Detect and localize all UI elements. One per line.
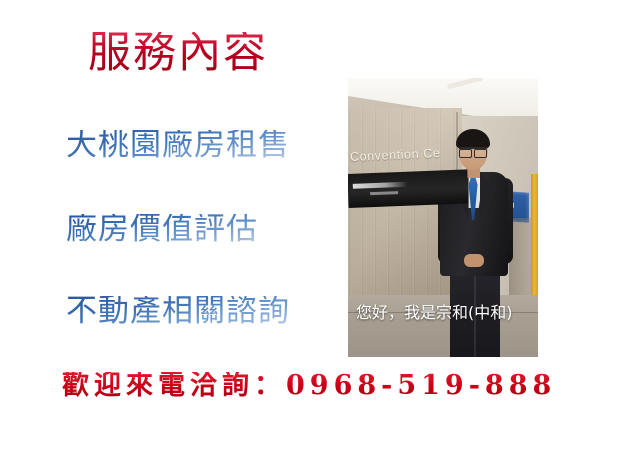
- service-item-2: 廠房價值評估: [66, 214, 258, 245]
- service-item-1: 大桃園廠房租售: [66, 130, 290, 161]
- counter-highlight-secondary: [370, 191, 399, 195]
- agent-photo: Convention Ce: [348, 78, 538, 357]
- reception-counter: [348, 169, 468, 208]
- presentation-slide: 服務內容 大桃園廠房租售 廠房價值評估 不動產相關諮詢 歡迎來電洽詢：0968-…: [0, 0, 640, 451]
- counter-highlight: [352, 181, 407, 188]
- hair: [456, 129, 490, 149]
- service-item-3: 不動產相關諮詢: [66, 296, 290, 327]
- glasses-icon: [459, 147, 487, 155]
- hands: [464, 254, 484, 267]
- page-title: 服務內容: [88, 32, 268, 75]
- photo-caption: 您好，我是宗和(中和): [356, 305, 513, 321]
- contact-call-to-action: 歡迎來電洽詢：0968-519-888: [62, 372, 556, 399]
